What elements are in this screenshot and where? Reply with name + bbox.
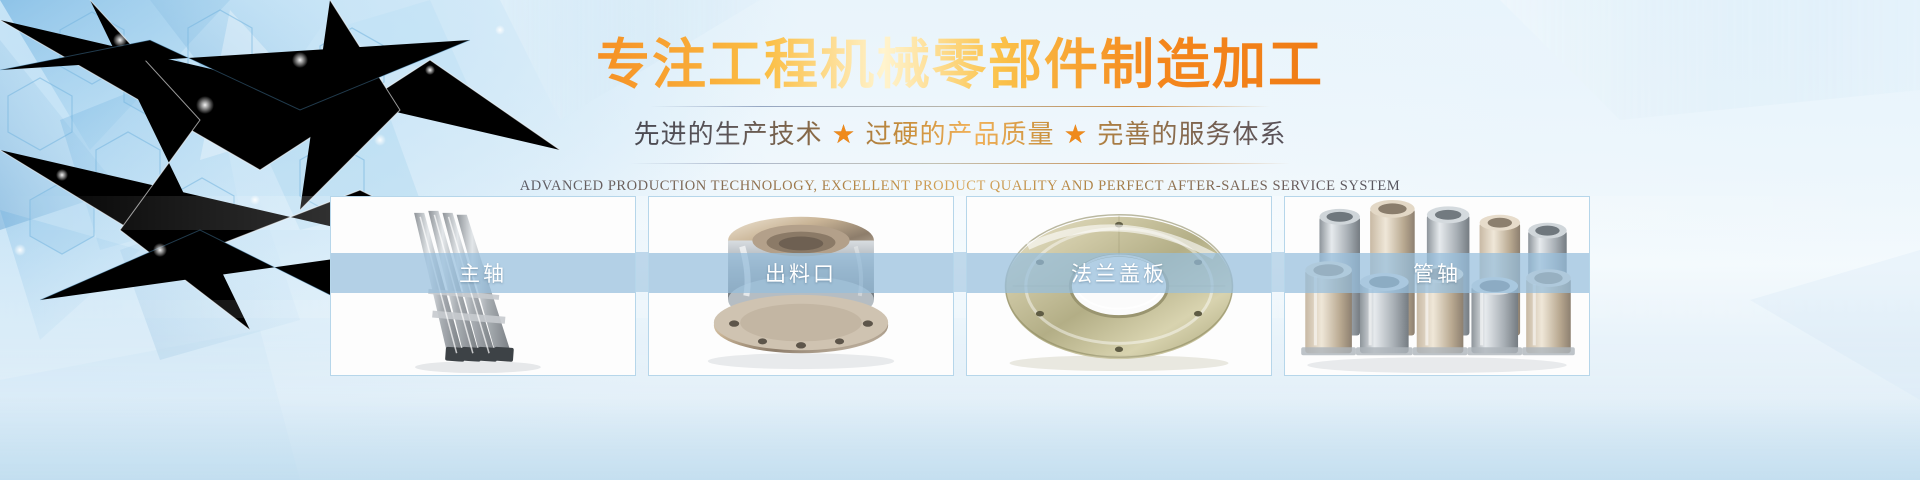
- product-label-band-discharge-port: 出料口: [649, 253, 953, 293]
- title-divider: [650, 106, 1270, 107]
- subtitle-part-1: 先进的生产技术: [634, 120, 823, 150]
- subtitle-part-2: 过硬的产品质量: [865, 120, 1054, 150]
- product-label-band-tube-shaft: 管轴: [1285, 253, 1589, 293]
- product-label-band-flange-cover-plate: 法兰盖板: [967, 253, 1271, 293]
- product-label-discharge-port: 出料口: [765, 258, 837, 288]
- english-tagline: ADVANCED PRODUCTION TECHNOLOGY, EXCELLEN…: [520, 177, 1400, 195]
- star-icon-1: ★: [832, 120, 856, 150]
- banner-text-block: 专注工程机械零部件制造加工 先进的生产技术 ★ 过硬的产品质量 ★ 完善的服务体…: [0, 34, 1920, 195]
- product-label-tube-shaft: 管轴: [1413, 258, 1461, 288]
- subtitle-divider: [630, 163, 1290, 164]
- product-card-tube-shaft[interactable]: 管轴: [1284, 196, 1590, 376]
- product-card-spindle-shafts[interactable]: 主轴: [330, 196, 636, 376]
- page-title: 专注工程机械零部件制造加工: [0, 34, 1920, 96]
- star-icon-2: ★: [1064, 120, 1088, 150]
- banner-subtitle: 先进的生产技术 ★ 过硬的产品质量 ★ 完善的服务体系: [634, 118, 1287, 152]
- product-label-spindle-shafts: 主轴: [459, 258, 507, 288]
- product-card-row: 主轴: [330, 196, 1590, 376]
- product-card-discharge-port[interactable]: 出料口: [648, 196, 954, 376]
- promo-banner: 专注工程机械零部件制造加工 先进的生产技术 ★ 过硬的产品质量 ★ 完善的服务体…: [0, 0, 1920, 480]
- product-label-flange-cover-plate: 法兰盖板: [1071, 258, 1167, 288]
- product-card-flange-cover-plate[interactable]: 法兰盖板: [966, 196, 1272, 376]
- product-label-band-spindle-shafts: 主轴: [331, 253, 635, 293]
- subtitle-part-3: 完善的服务体系: [1097, 120, 1286, 150]
